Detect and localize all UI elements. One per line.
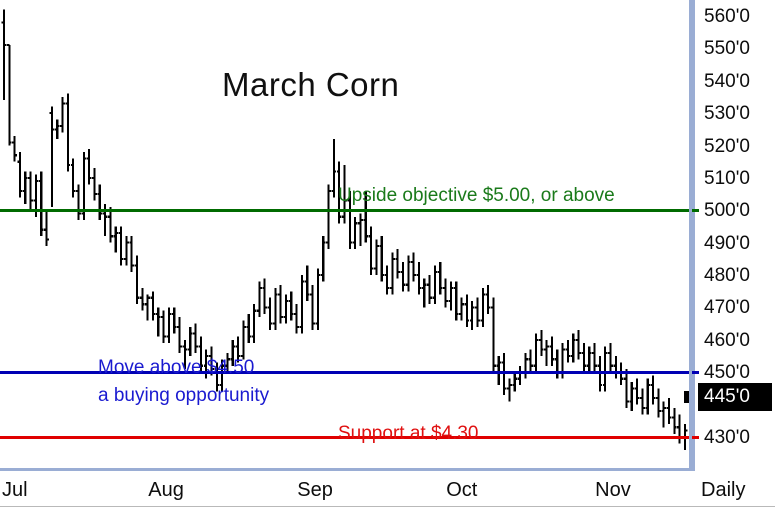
price-tick-label: 530'0 — [704, 104, 750, 123]
price-tick-label: 430'0 — [704, 428, 750, 447]
price-tick-label: 470'0 — [704, 298, 750, 317]
chart-plot-area[interactable]: Upside objective $5.00, or above Move ab… — [0, 0, 692, 471]
time-tick-label: Aug — [148, 479, 184, 502]
annotation-buy-trigger-line2: a buying opportunity — [98, 385, 269, 407]
annotation-buy-trigger-line1: Move above $4.50 — [98, 357, 254, 379]
reference-line-upside-objective — [0, 209, 692, 212]
price-tick-label: 510'0 — [704, 169, 750, 188]
axis-stub-support — [692, 436, 699, 439]
last-price-tag: 445'0 — [698, 383, 772, 411]
axis-stub-buy-trigger — [692, 371, 699, 374]
timeframe-label: Daily — [701, 479, 745, 502]
chart-application: Upside objective $5.00, or above Move ab… — [0, 0, 775, 513]
chart-title: March Corn — [222, 66, 399, 104]
price-tick-label: 560'0 — [704, 7, 750, 26]
time-tick-label: Oct — [446, 479, 477, 502]
price-tick-label: 520'0 — [704, 137, 750, 156]
time-tick-label: Sep — [297, 479, 333, 502]
price-tick-label: 460'0 — [704, 331, 750, 350]
last-price-value: 445'0 — [704, 387, 750, 406]
price-tick-label: 450'0 — [704, 363, 750, 382]
price-tick-label: 550'0 — [704, 39, 750, 58]
price-axis[interactable]: 560'0550'0540'0530'0520'0510'0500'0490'0… — [692, 0, 775, 471]
price-tick-label: 500'0 — [704, 201, 750, 220]
last-price-marker — [684, 391, 692, 403]
annotation-support: Support at $4.30 — [338, 423, 479, 445]
time-tick-label: Nov — [595, 479, 631, 502]
price-tick-label: 490'0 — [704, 234, 750, 253]
price-tick-label: 540'0 — [704, 72, 750, 91]
annotation-upside-objective: Upside objective $5.00, or above — [338, 185, 615, 207]
time-tick-label: Jul — [2, 479, 28, 502]
price-tick-label: 480'0 — [704, 266, 750, 285]
axis-stub-upside-objective — [692, 209, 699, 212]
